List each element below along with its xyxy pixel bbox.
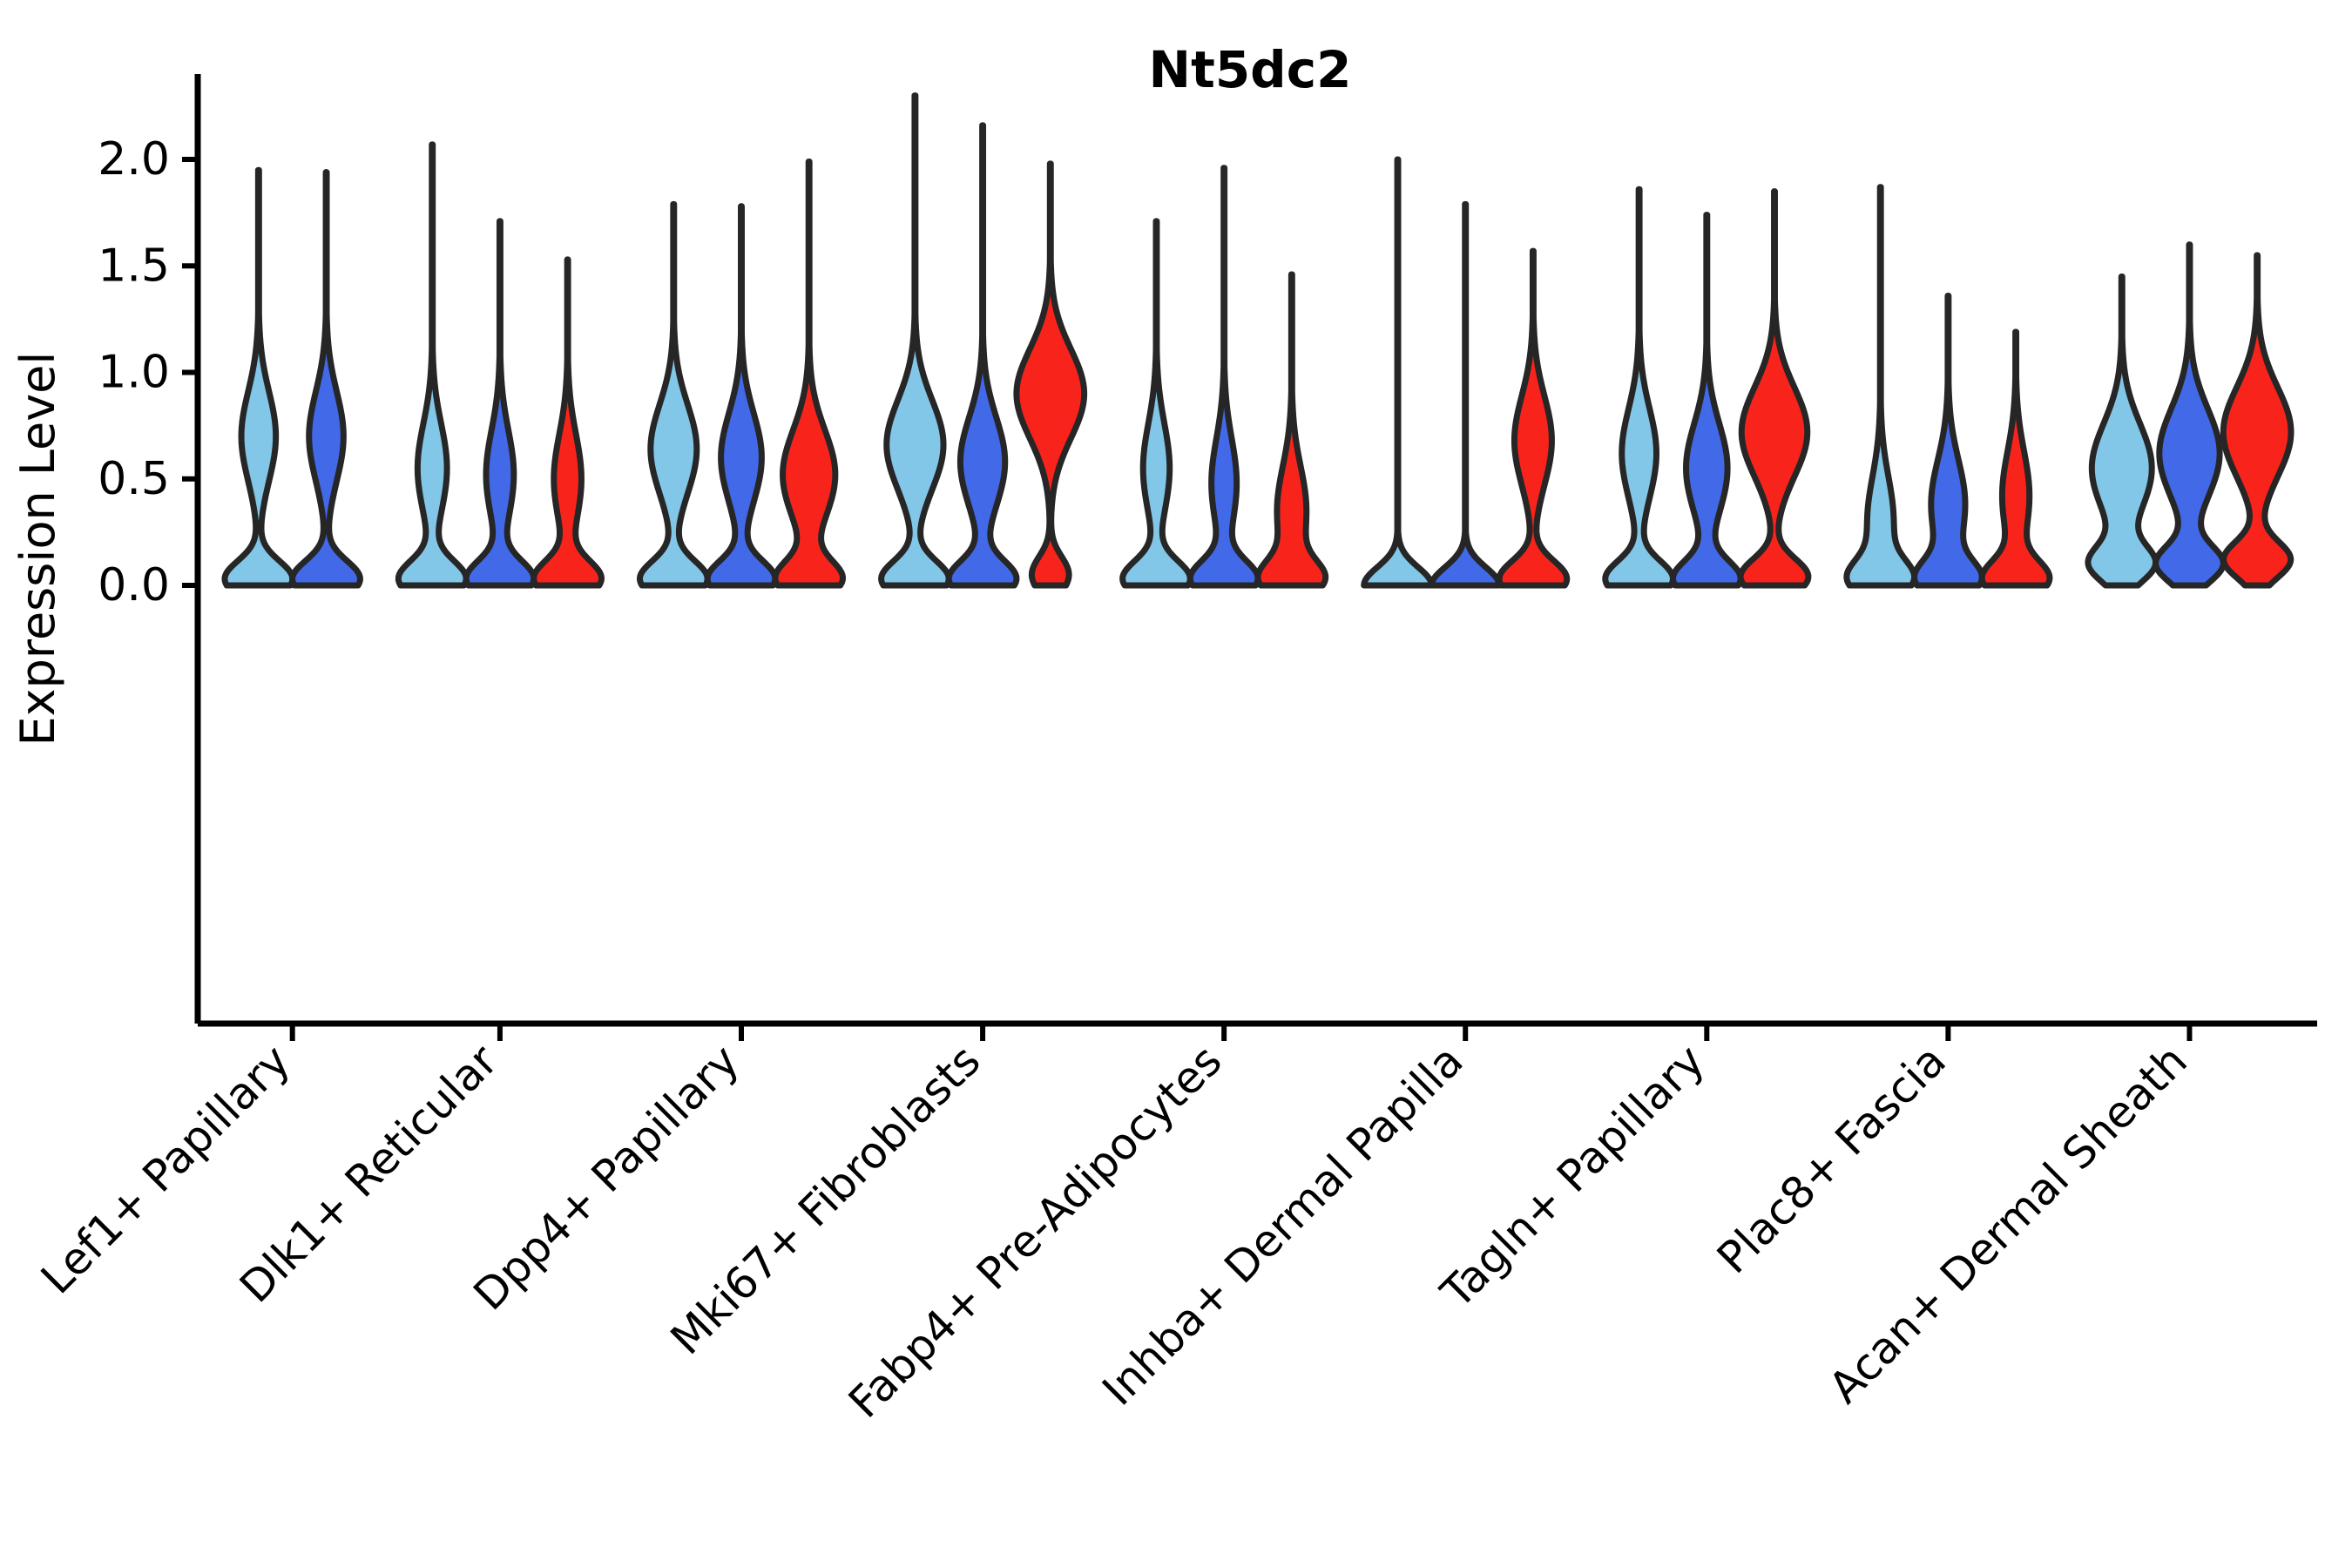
violin-red[interactable] xyxy=(775,161,843,585)
x-tick-labels: Lef1+ PapillaryDlk1+ ReticularDpp4+ Papi… xyxy=(31,1035,2197,1428)
violin-red[interactable] xyxy=(1499,251,1567,585)
page-title: Nt5dc2 xyxy=(1149,40,1352,99)
violin-royal-blue[interactable] xyxy=(1673,215,1740,585)
violin-red[interactable] xyxy=(2223,255,2291,585)
y-axis-label: Expression Level xyxy=(10,352,65,747)
y-tick-label: 1.5 xyxy=(98,240,170,292)
violin-plot-figure: Nt5dc2 0.00.51.01.52.0 Expression Level … xyxy=(0,0,2352,1568)
violin-series-group xyxy=(225,96,2291,585)
violin-royal-blue[interactable] xyxy=(1431,204,1499,585)
y-axis: 0.00.51.01.52.0 xyxy=(98,74,198,1024)
violin-red[interactable] xyxy=(1982,332,2050,585)
violin-royal-blue[interactable] xyxy=(1190,168,1258,585)
violin-royal-blue[interactable] xyxy=(2156,245,2224,585)
x-axis xyxy=(198,1024,2317,1041)
x-tick-label: Dpp4+ Papillary xyxy=(464,1035,749,1320)
violin-light-blue[interactable] xyxy=(1847,187,1915,585)
violin-plot-svg: Nt5dc2 0.00.51.01.52.0 Expression Level … xyxy=(0,0,2352,1568)
violin-royal-blue[interactable] xyxy=(466,221,534,585)
violin-light-blue[interactable] xyxy=(882,96,950,585)
violin-royal-blue[interactable] xyxy=(1915,295,1983,585)
y-tick-label: 2.0 xyxy=(98,133,170,186)
violin-light-blue[interactable] xyxy=(639,204,707,585)
violin-light-blue[interactable] xyxy=(1364,159,1432,585)
violin-light-blue[interactable] xyxy=(225,170,293,585)
violin-royal-blue[interactable] xyxy=(949,125,1017,585)
x-tick-label: Tagln+ Papillary xyxy=(1431,1035,1714,1318)
violin-red[interactable] xyxy=(1740,192,1808,585)
violin-light-blue[interactable] xyxy=(1605,189,1673,585)
violin-royal-blue[interactable] xyxy=(707,206,775,585)
violin-red[interactable] xyxy=(534,260,602,585)
violin-red[interactable] xyxy=(1258,274,1326,585)
x-tick-label: Plac8+ Fascia xyxy=(1707,1035,1956,1283)
violin-red[interactable] xyxy=(1017,164,1085,585)
violin-light-blue[interactable] xyxy=(1123,221,1191,585)
y-tick-label: 0.0 xyxy=(98,559,170,612)
violin-royal-blue[interactable] xyxy=(293,172,361,585)
violin-light-blue[interactable] xyxy=(2088,276,2156,585)
y-tick-label: 1.0 xyxy=(98,347,170,399)
y-tick-label: 0.5 xyxy=(98,453,170,505)
violin-light-blue[interactable] xyxy=(398,145,466,585)
